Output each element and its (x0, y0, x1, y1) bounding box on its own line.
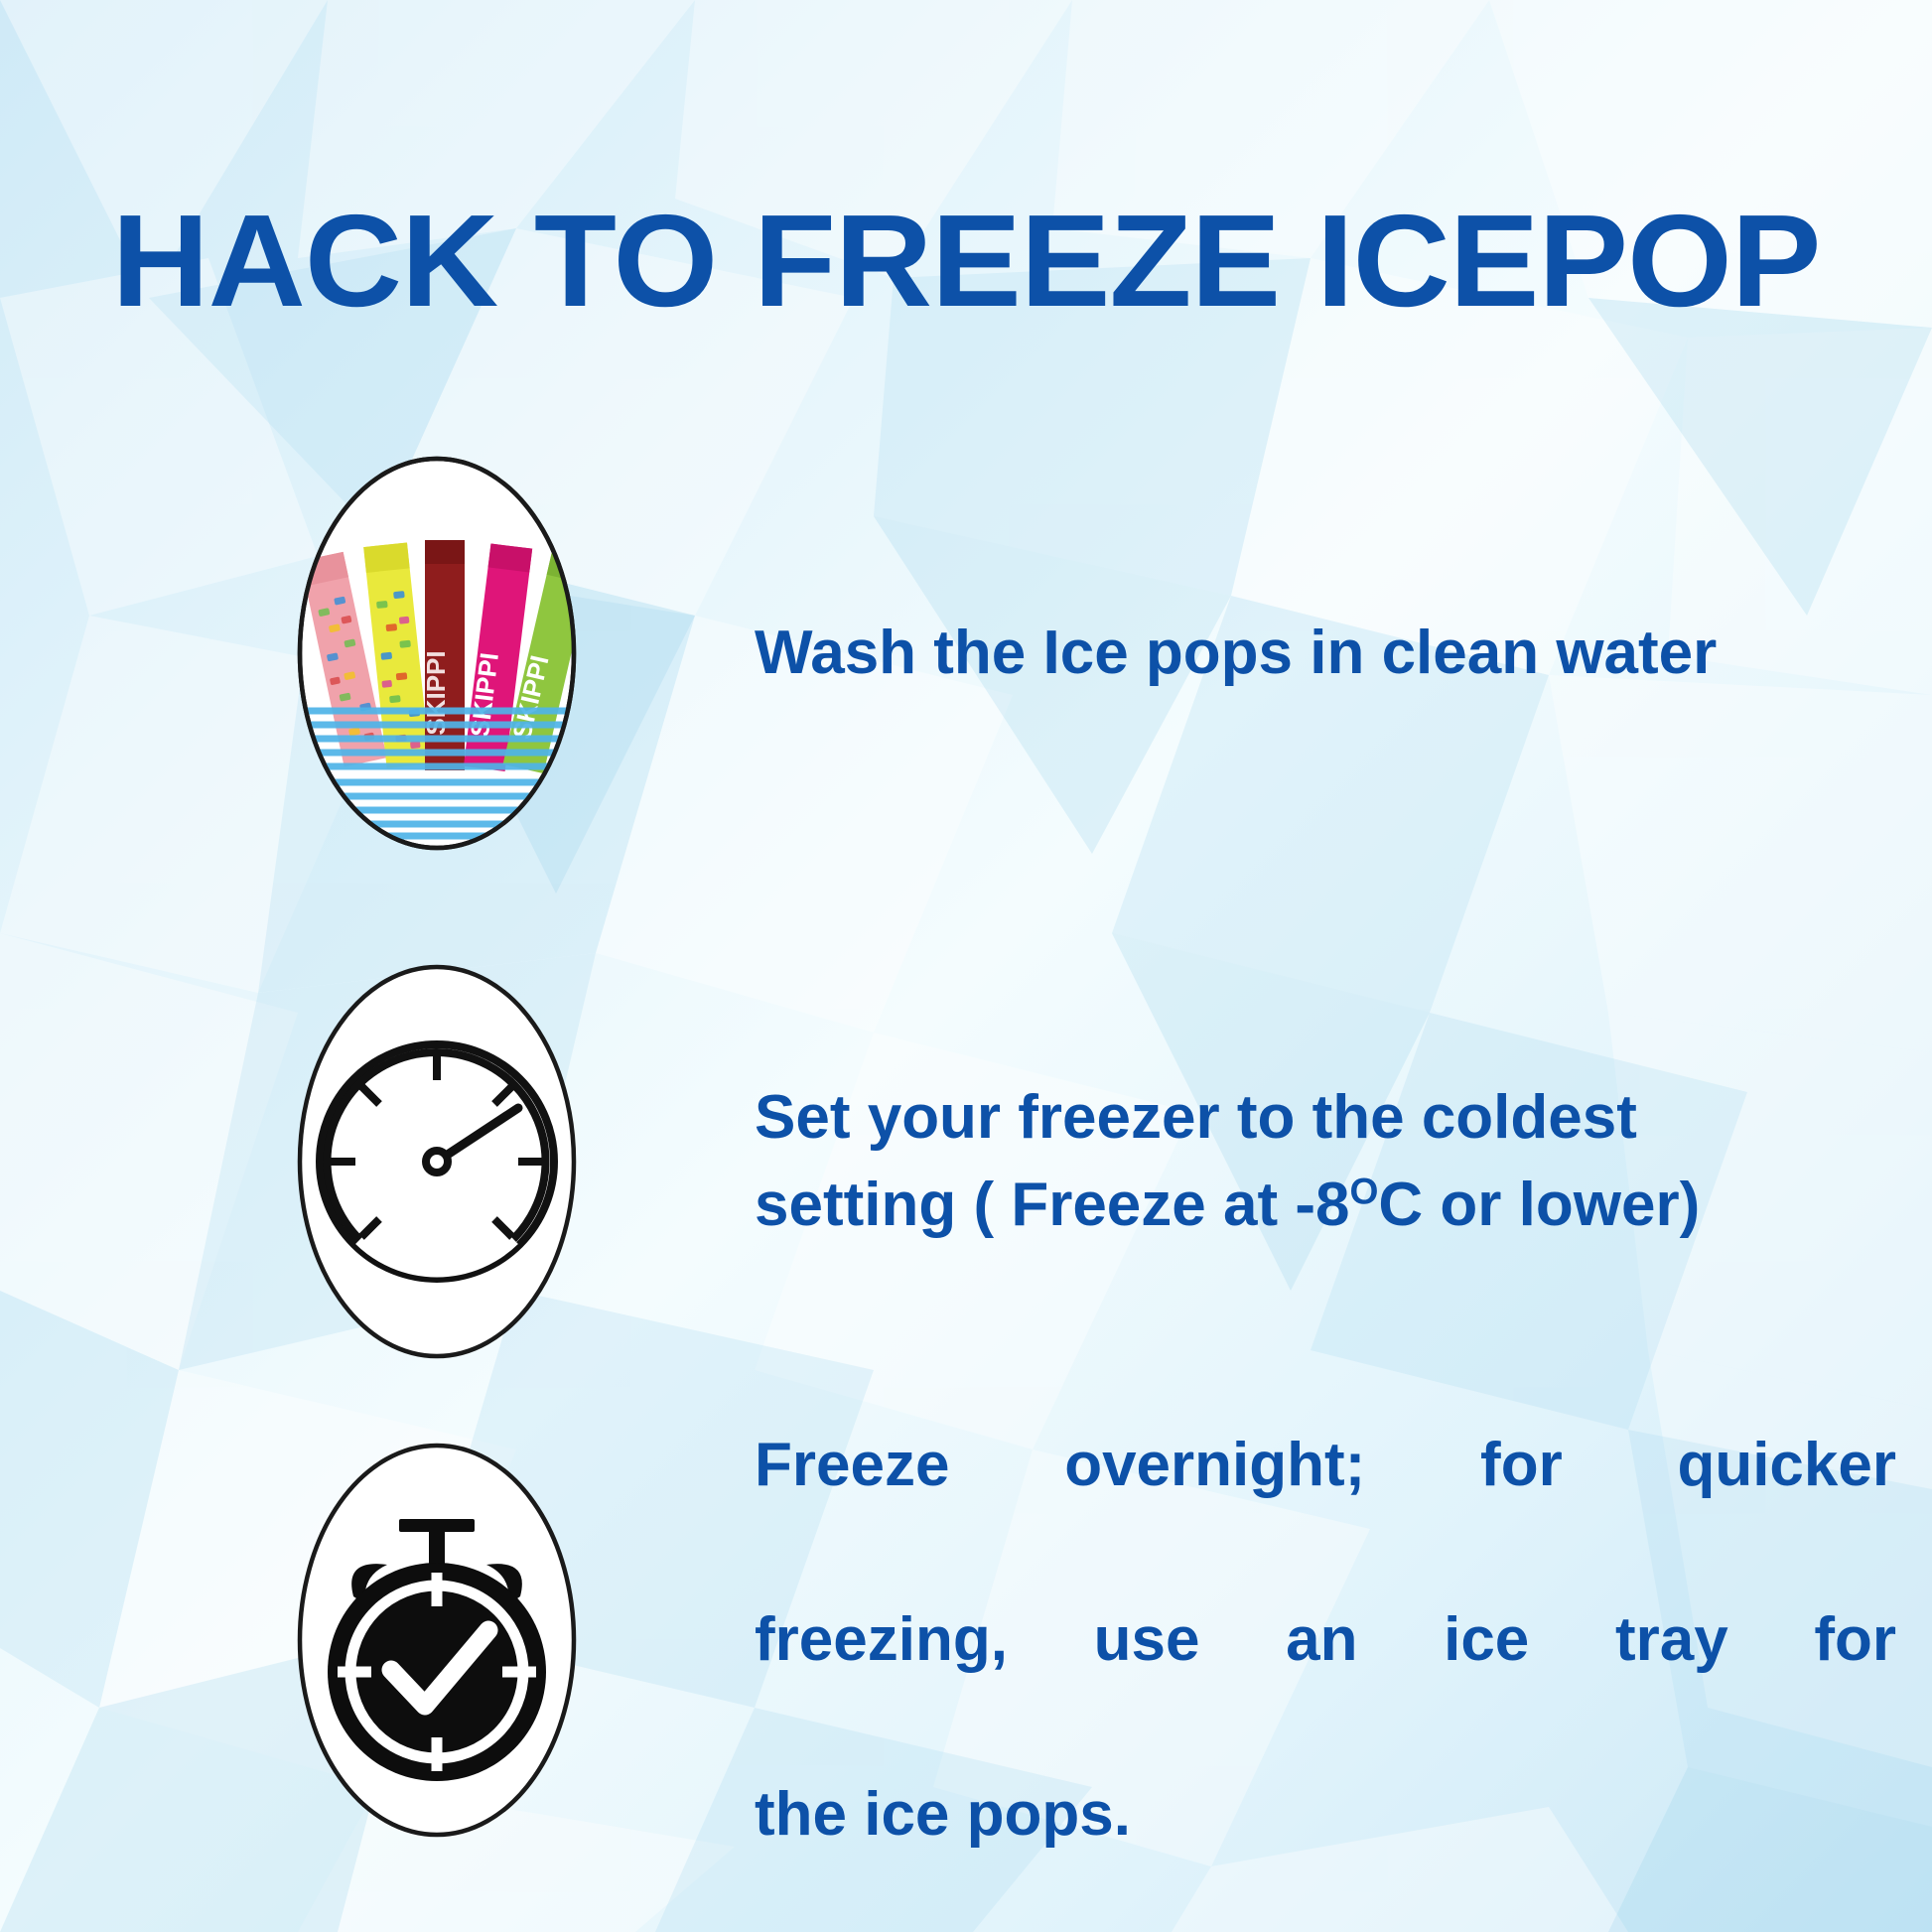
icepop-photo-icon: SKIPPI SKIPPI SKIPPI (228, 445, 645, 862)
step-3-text-line-2: freezing, use an ice tray for (755, 1596, 1896, 1771)
infographic-poster: HACK TO FREEZE ICEPOP (0, 0, 1932, 1932)
step-row-3: Freeze overnight; for quicker freezing, … (228, 1432, 1916, 1849)
step-1-icon-cell: SKIPPI SKIPPI SKIPPI (228, 445, 645, 862)
step-3-text-line-3: the ice pops. (755, 1780, 1131, 1849)
step-2-text-line-2-before: setting ( Freeze at -8 (755, 1171, 1349, 1239)
step-1-text-cell: Wash the Ice pops in clean water (645, 617, 1916, 689)
alarm-clock-check-icon (228, 1432, 645, 1849)
page-title: HACK TO FREEZE ICEPOP (0, 195, 1932, 329)
step-row-2: Set your freezer to the coldest setting … (228, 953, 1916, 1370)
thermostat-dial-icon (228, 953, 645, 1370)
step-3-text-line-1: Freeze overnight; for quicker (755, 1422, 1896, 1596)
step-2-text-line-2-after: C or lower) (1378, 1171, 1700, 1239)
step-1-text: Wash the Ice pops in clean water (755, 619, 1717, 687)
step-3-text-cell: Freeze overnight; for quicker freezing, … (645, 1422, 1916, 1859)
step-2-text-cell: Set your freezer to the coldest setting … (645, 1074, 1916, 1249)
step-2-text-line-1: Set your freezer to the coldest (755, 1074, 1896, 1162)
step-2-icon-cell (228, 953, 645, 1370)
degree-symbol: O (1349, 1170, 1378, 1211)
step-2-text-line-2: setting ( Freeze at -8OC or lower) (755, 1162, 1896, 1249)
step-3-icon-cell (228, 1432, 645, 1849)
step-row-1: SKIPPI SKIPPI SKIPPI (228, 445, 1916, 862)
